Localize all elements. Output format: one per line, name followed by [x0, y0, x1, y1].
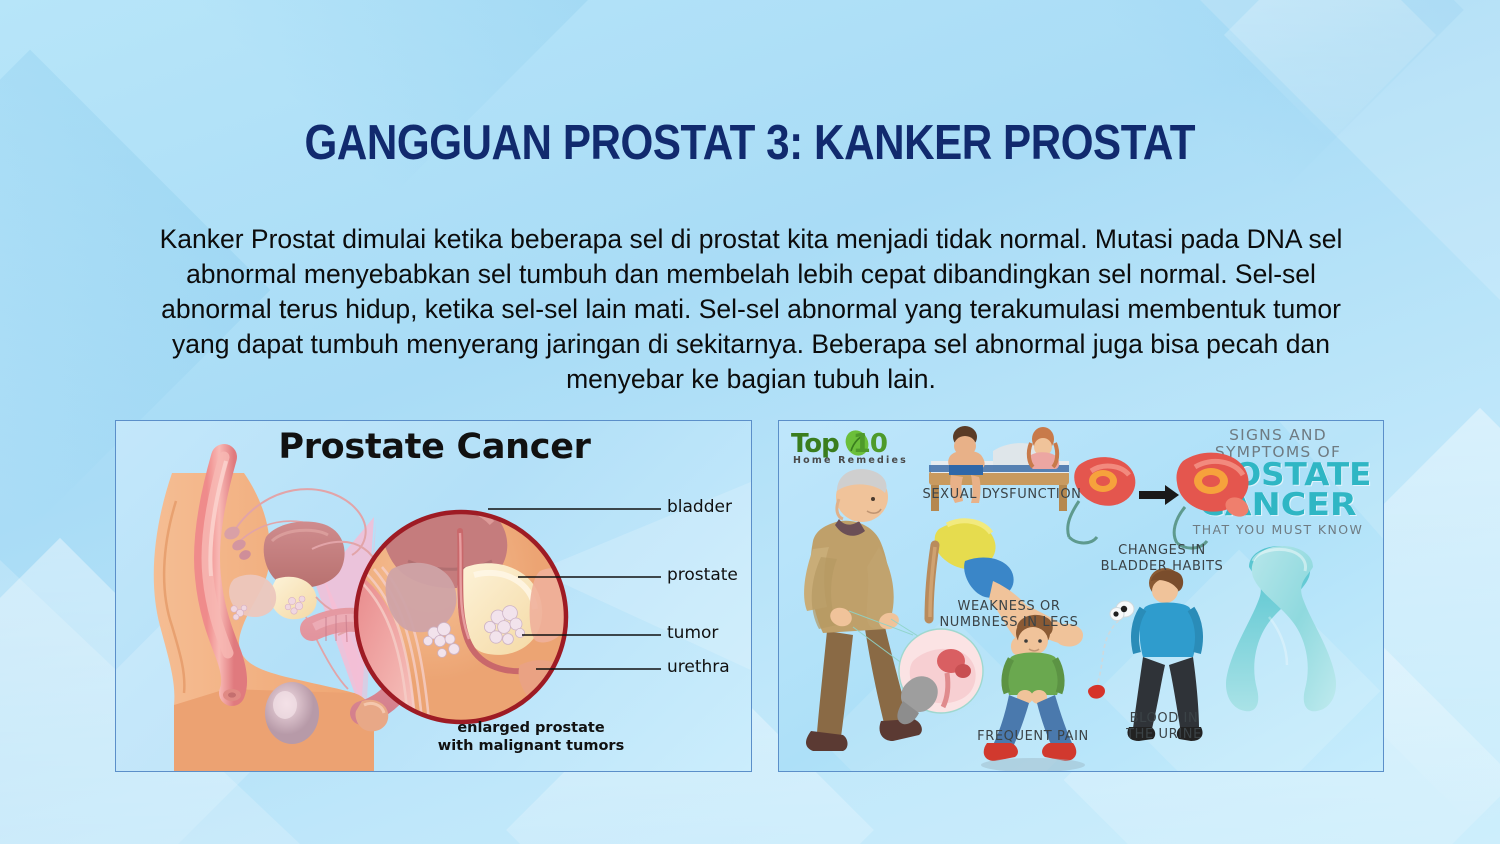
label-blood-in-urine: BLOOD IN THE URINE: [1099, 711, 1229, 743]
label-weakness-line-2: NUMBNESS IN LEGS: [909, 615, 1109, 631]
caption-line-2: with malignant tumors: [386, 737, 676, 755]
page-title-text: GANGGUAN PROSTAT 3: KANKER PROSTAT: [305, 115, 1196, 171]
right-figure-frame: Top10 Home Remedies SIGNS AND SYMPTOMS O…: [778, 420, 1384, 772]
label-changes-bladder-habits: CHANGES IN BLADDER HABITS: [1067, 543, 1257, 575]
label-weakness-numbness-legs: WEAKNESS OR NUMBNESS IN LEGS: [909, 599, 1109, 631]
left-figure-frame: Prostate Cancer: [115, 420, 752, 772]
label-prostate: prostate: [667, 565, 738, 585]
label-urethra: urethra: [667, 657, 730, 677]
left-figure-caption: enlarged prostate with malignant tumors: [386, 719, 676, 755]
label-bladder: bladder: [667, 497, 732, 517]
label-tumor: tumor: [667, 623, 718, 643]
pelvis-inset-circle: [897, 629, 983, 724]
label-blood-line-2: THE URINE: [1099, 727, 1229, 743]
page-title: GANGGUAN PROSTAT 3: KANKER PROSTAT: [0, 115, 1500, 171]
label-bladder-line-2: BLADDER HABITS: [1067, 559, 1257, 575]
symptom-illustrations: [779, 421, 1384, 772]
label-frequent-pain: FREQUENT PAIN: [953, 729, 1113, 744]
label-bladder-line-1: CHANGES IN: [1067, 543, 1257, 559]
bladder-habits-illustration: [1068, 453, 1252, 549]
label-sexual-dysfunction: SEXUAL DYSFUNCTION: [917, 487, 1087, 502]
label-blood-line-1: BLOOD IN: [1099, 711, 1229, 727]
body-paragraph: Kanker Prostat dimulai ketika beberapa s…: [135, 222, 1367, 397]
caption-line-1: enlarged prostate: [386, 719, 676, 737]
label-weakness-line-1: WEAKNESS OR: [909, 599, 1109, 615]
